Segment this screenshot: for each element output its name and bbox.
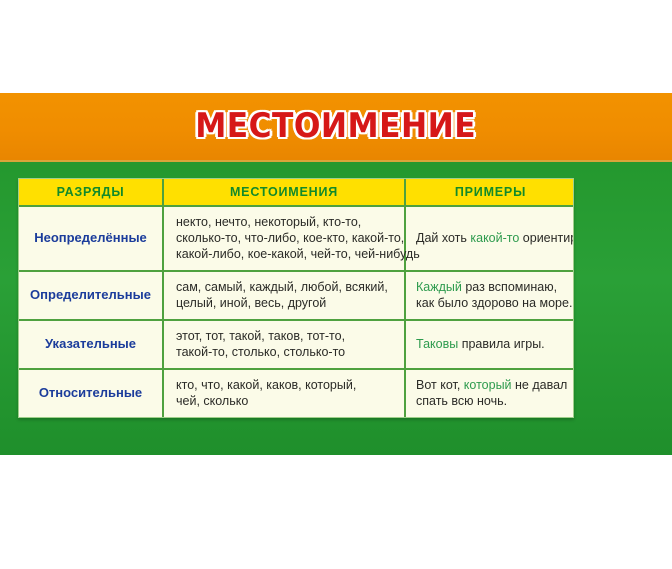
pronoun-categories-table-card: РАЗРЯДЫ МЕСТОИМЕНИЯ ПРИМЕРЫ Неопределённ… bbox=[18, 178, 574, 418]
cell-pronoun-list: некто, нечто, некоторый, кто-то, сколько… bbox=[163, 206, 405, 271]
table-body: Неопределённые некто, нечто, некоторый, … bbox=[19, 206, 574, 417]
cell-example: Дай хоть какой-то ориентир. bbox=[405, 206, 574, 271]
pronoun-line: чей, сколько bbox=[176, 393, 395, 409]
pronoun-categories-table: РАЗРЯДЫ МЕСТОИМЕНИЯ ПРИМЕРЫ Неопределённ… bbox=[19, 179, 574, 417]
example-text-before: как было здорово на море. bbox=[416, 296, 572, 310]
cell-pronoun-list: кто, что, какой, каков, который, чей, ск… bbox=[163, 369, 405, 417]
cell-example: Таковы правила игры. bbox=[405, 320, 574, 369]
pronoun-line: этот, тот, такой, таков, тот-то, bbox=[176, 328, 395, 344]
pronoun-line: сам, самый, каждый, любой, всякий, bbox=[176, 279, 395, 295]
table-header: РАЗРЯДЫ МЕСТОИМЕНИЯ ПРИМЕРЫ bbox=[19, 179, 574, 206]
pronoun-line: такой-то, столько, столько-то bbox=[176, 344, 395, 360]
cell-example: Вот кот, который не давал спать всю ночь… bbox=[405, 369, 574, 417]
example-text-after: ориентир. bbox=[519, 231, 574, 245]
example-line: Каждый раз вспоминаю, bbox=[416, 279, 566, 295]
table-row: Неопределённые некто, нечто, некоторый, … bbox=[19, 206, 574, 271]
column-header-razryady: РАЗРЯДЫ bbox=[19, 179, 163, 206]
page-title: МЕСТОИМЕНИЕ bbox=[190, 107, 482, 147]
example-highlight: который bbox=[464, 378, 512, 392]
table-row: Относительные кто, что, какой, каков, ко… bbox=[19, 369, 574, 417]
cell-example: Каждый раз вспоминаю, как было здорово н… bbox=[405, 271, 574, 320]
poster-root: МЕСТОИМЕНИЕ РАЗРЯДЫ МЕСТОИМЕНИЯ ПРИМЕРЫ bbox=[0, 0, 672, 569]
column-header-mestoimeniya: МЕСТОИМЕНИЯ bbox=[163, 179, 405, 206]
category-label: Неопределённые bbox=[28, 230, 153, 246]
example-highlight: Каждый bbox=[416, 280, 462, 294]
cell-category: Неопределённые bbox=[19, 206, 163, 271]
category-label: Указательные bbox=[28, 336, 153, 352]
example-text-after: правила игры. bbox=[458, 337, 544, 351]
example-line: как было здорово на море. bbox=[416, 295, 566, 311]
pronoun-line: некто, нечто, некоторый, кто-то, bbox=[176, 214, 395, 230]
cell-pronoun-list: этот, тот, такой, таков, тот-то, такой-т… bbox=[163, 320, 405, 369]
example-line: Таковы правила игры. bbox=[416, 336, 566, 352]
category-label: Определительные bbox=[28, 287, 153, 303]
cell-category: Определительные bbox=[19, 271, 163, 320]
example-text-after: раз вспоминаю, bbox=[462, 280, 557, 294]
example-text-before: Вот кот, bbox=[416, 378, 464, 392]
title-banner: МЕСТОИМЕНИЕ bbox=[0, 93, 672, 162]
example-text-before: спать всю ночь. bbox=[416, 394, 507, 408]
table-row: Указательные этот, тот, такой, таков, то… bbox=[19, 320, 574, 369]
pronoun-line: какой-либо, кое-какой, чей-то, чей-нибуд… bbox=[176, 246, 395, 262]
pronoun-line: сколько-то, что-либо, кое-кто, какой-то, bbox=[176, 230, 395, 246]
example-highlight: Таковы bbox=[416, 337, 458, 351]
pronoun-line: целый, иной, весь, другой bbox=[176, 295, 395, 311]
cell-category: Указательные bbox=[19, 320, 163, 369]
example-text-after: не давал bbox=[512, 378, 568, 392]
category-label: Относительные bbox=[28, 385, 153, 401]
example-text-before: Дай хоть bbox=[416, 231, 470, 245]
example-line: спать всю ночь. bbox=[416, 393, 566, 409]
example-line: Дай хоть какой-то ориентир. bbox=[416, 230, 566, 246]
cell-pronoun-list: сам, самый, каждый, любой, всякий, целый… bbox=[163, 271, 405, 320]
table-header-row: РАЗРЯДЫ МЕСТОИМЕНИЯ ПРИМЕРЫ bbox=[19, 179, 574, 206]
cell-category: Относительные bbox=[19, 369, 163, 417]
column-header-primery: ПРИМЕРЫ bbox=[405, 179, 574, 206]
example-line: Вот кот, который не давал bbox=[416, 377, 566, 393]
pronoun-line: кто, что, какой, каков, который, bbox=[176, 377, 395, 393]
table-row: Определительные сам, самый, каждый, любо… bbox=[19, 271, 574, 320]
example-highlight: какой-то bbox=[470, 231, 519, 245]
